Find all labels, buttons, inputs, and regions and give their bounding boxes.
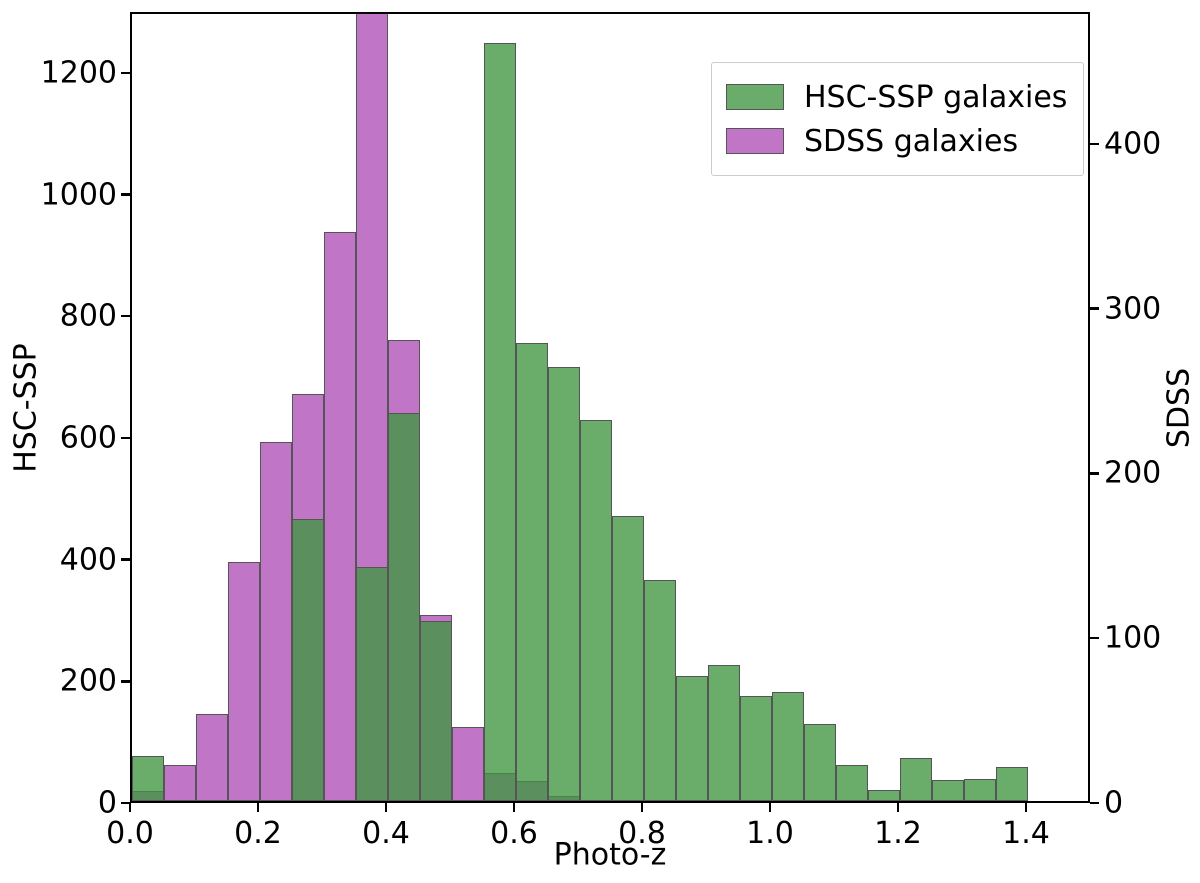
y-tick-label-left: 1000 xyxy=(41,177,117,212)
histogram-bar xyxy=(196,714,228,801)
y-axis-label-left: HSC-SSP xyxy=(9,343,44,473)
x-tick-label: 1.4 xyxy=(1002,816,1050,851)
y-tick-mark-left xyxy=(121,802,130,805)
histogram-bar xyxy=(964,779,996,801)
histogram-bar xyxy=(900,758,932,801)
y-tick-mark-right xyxy=(1090,802,1099,805)
histogram-bar xyxy=(868,790,900,801)
y-tick-label-left: 0 xyxy=(98,786,117,821)
histogram-bar xyxy=(228,562,260,801)
y-tick-label-left: 800 xyxy=(60,299,117,334)
legend-swatch-sdss-icon xyxy=(726,128,784,154)
x-tick-label: 1.2 xyxy=(874,816,922,851)
histogram-bar xyxy=(260,442,292,801)
histogram-bar xyxy=(836,765,868,802)
y-axis-label-right: SDSS xyxy=(1162,368,1197,448)
x-tick-mark xyxy=(129,803,132,812)
x-tick-mark xyxy=(385,803,388,812)
histogram-bar xyxy=(292,519,324,801)
x-tick-label: 0.0 xyxy=(106,816,154,851)
histogram-bar xyxy=(772,692,804,801)
histogram-bar xyxy=(708,665,740,801)
y-tick-label-right: 200 xyxy=(1104,456,1161,491)
histogram-bar xyxy=(804,724,836,801)
x-tick-mark xyxy=(769,803,772,812)
y-tick-mark-left xyxy=(121,315,130,318)
y-tick-label-left: 1200 xyxy=(41,55,117,90)
x-tick-label: 1.0 xyxy=(746,816,794,851)
y-tick-label-left: 200 xyxy=(60,664,117,699)
y-tick-mark-right xyxy=(1090,307,1099,310)
histogram-bar xyxy=(132,756,164,801)
y-tick-label-left: 600 xyxy=(60,420,117,455)
x-tick-mark xyxy=(513,803,516,812)
histogram-bar xyxy=(676,676,708,801)
histogram-bar xyxy=(452,727,484,801)
legend-label-hsc: HSC-SSP galaxies xyxy=(804,80,1067,115)
x-tick-mark xyxy=(641,803,644,812)
x-tick-mark xyxy=(897,803,900,812)
histogram-bar xyxy=(516,343,548,801)
histogram-bar xyxy=(484,43,516,801)
x-tick-mark xyxy=(1025,803,1028,812)
histogram-figure: 0.00.20.40.60.81.01.21.40200400600800100… xyxy=(0,0,1200,883)
histogram-bar xyxy=(740,696,772,801)
x-tick-mark xyxy=(257,803,260,812)
histogram-bar xyxy=(356,567,388,801)
x-axis-label: Photo-z xyxy=(554,838,667,873)
histogram-bar xyxy=(932,780,964,801)
legend: HSC-SSP galaxies SDSS galaxies xyxy=(711,62,1084,176)
histogram-bar xyxy=(548,367,580,801)
y-tick-label-right: 0 xyxy=(1104,786,1123,821)
x-tick-label: 0.6 xyxy=(490,816,538,851)
y-tick-mark-right xyxy=(1090,143,1099,146)
histogram-bar xyxy=(612,516,644,801)
y-tick-label-left: 400 xyxy=(60,542,117,577)
histogram-bar xyxy=(580,420,612,802)
y-tick-label-right: 400 xyxy=(1104,126,1161,161)
histogram-bar xyxy=(164,765,196,801)
y-tick-mark-left xyxy=(121,680,130,683)
legend-label-sdss: SDSS galaxies xyxy=(804,124,1018,159)
y-tick-label-right: 100 xyxy=(1104,621,1161,656)
histogram-bar xyxy=(324,232,356,801)
histogram-bar xyxy=(996,767,1028,801)
y-tick-label-right: 300 xyxy=(1104,291,1161,326)
y-tick-mark-left xyxy=(121,193,130,196)
legend-item-sdss: SDSS galaxies xyxy=(726,119,1067,163)
y-tick-mark-right xyxy=(1090,472,1099,475)
histogram-bar xyxy=(388,413,420,801)
histogram-bar xyxy=(644,580,676,801)
histogram-bar xyxy=(420,621,452,801)
x-tick-label: 0.4 xyxy=(362,816,410,851)
legend-swatch-hsc-icon xyxy=(726,84,784,110)
legend-item-hsc: HSC-SSP galaxies xyxy=(726,75,1067,119)
y-tick-mark-right xyxy=(1090,637,1099,640)
y-tick-mark-left xyxy=(121,437,130,440)
y-tick-mark-left xyxy=(121,558,130,561)
x-tick-label: 0.2 xyxy=(234,816,282,851)
y-tick-mark-left xyxy=(121,72,130,75)
